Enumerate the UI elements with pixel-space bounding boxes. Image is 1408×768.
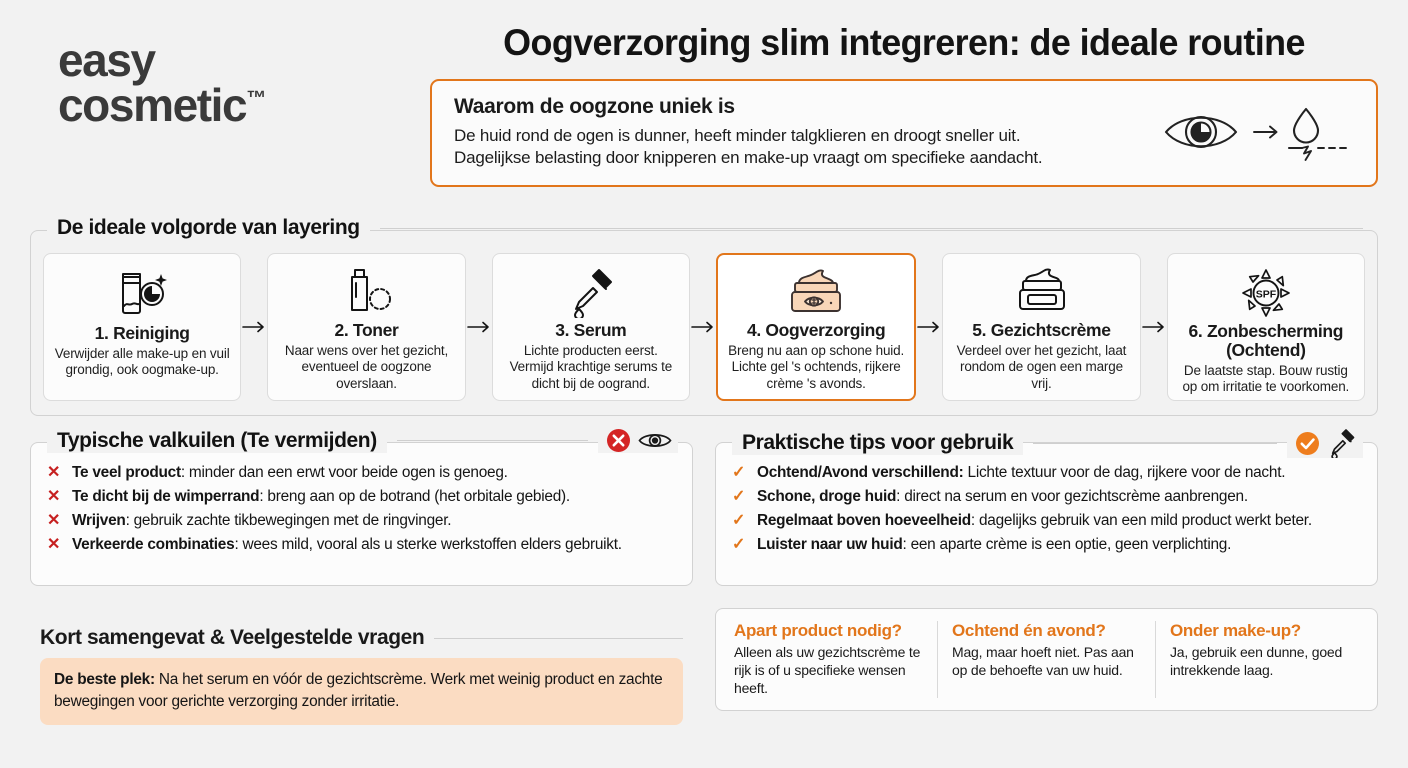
list-item-bold: Regelmaat boven hoeveelheid (757, 512, 971, 529)
summary-legend: Kort samengevat & Veelgestelde vragen (40, 626, 683, 650)
tips-legend-text: Praktische tips voor gebruik (732, 431, 1023, 455)
list-item-rest: : gebruik zachte tikbewegingen met de ri… (126, 512, 452, 529)
lower-grid: Typische valkuilen (Te vermijden) (30, 442, 1378, 735)
list-item-rest: Lichte textuur voor de dag, rijkere voor… (963, 464, 1285, 481)
right-column: Praktische tips voor gebruik (715, 442, 1378, 735)
brand-word-cosmetic: cosmetic (58, 79, 246, 131)
pitfalls-list: ✕ Te veel product: minder dan een erwt v… (47, 461, 676, 557)
step-title: 5. Gezichtscrème (972, 321, 1110, 340)
brand-logo: easy cosmetic™ (30, 18, 430, 127)
step-title: 4. Oogverzorging (747, 321, 885, 340)
page-title: Oogverzorging slim integreren: de ideale… (444, 22, 1364, 65)
step-card-3[interactable]: 3. Serum Lichte producten eerst. Vermijd… (492, 253, 690, 401)
step-arrow-2 (466, 253, 492, 401)
legend-divider (397, 440, 588, 441)
intro-line-two: Dagelijkse belasting door knipperen en m… (454, 147, 1144, 169)
list-item-rest: : wees mild, vooral als u sterke werksto… (234, 536, 621, 553)
faq-question: Onder make-up? (1170, 621, 1359, 641)
eye-outline-icon (638, 430, 672, 451)
cleanser-tube-icon (111, 266, 173, 322)
step-arrow-4 (916, 253, 942, 401)
step-desc: Breng nu aan op schone huid. Lichte gel … (726, 343, 906, 392)
list-item-bold: Te veel product (72, 464, 181, 481)
red-x-circle-icon (606, 428, 631, 453)
faq-question: Ochtend én avond? (952, 621, 1141, 641)
step-card-2[interactable]: 2. Toner Naar wens over het gezicht, eve… (267, 253, 465, 401)
list-item-text: Te dicht bij de wimperrand: breng aan op… (72, 485, 570, 509)
step-title: 1. Reiniging (95, 324, 190, 343)
check-mark-icon: ✓ (732, 534, 748, 556)
intro-text: Waarom de oogzone uniek is De huid rond … (454, 95, 1144, 170)
list-item: ✕ Te veel product: minder dan een erwt v… (47, 461, 676, 485)
list-item-text: Schone, droge huid: direct na serum en v… (757, 485, 1248, 509)
dropper-icon (565, 266, 617, 319)
intro-title: Waarom de oogzone uniek is (454, 95, 1144, 119)
list-item: ✓ Ochtend/Avond verschillend: Lichte tex… (732, 461, 1361, 485)
check-mark-icon: ✓ (732, 486, 748, 508)
faq-item-3: Onder make-up? Ja, gebruik een dunne, go… (1156, 621, 1373, 698)
list-item-rest: : een aparte crème is een optie, geen ve… (903, 536, 1232, 553)
list-item-rest: : dagelijks gebruik van een mild product… (971, 512, 1312, 529)
step-card-6[interactable]: SPF 6. Zonbescherming (Ochtend) De laats… (1167, 253, 1365, 401)
steps-row: 1. Reiniging Verwijder alle make-up en v… (43, 253, 1365, 401)
list-item: ✕ Verkeerde combinaties: wees mild, voor… (47, 533, 676, 557)
intro-line-one: De huid rond de ogen is dunner, heeft mi… (454, 125, 1144, 147)
arrow-right-icon (691, 320, 715, 334)
list-item-bold: Luister naar uw huid (757, 536, 903, 553)
list-item-bold: Te dicht bij de wimperrand (72, 488, 259, 505)
list-item: ✓ Luister naar uw huid: een aparte crème… (732, 533, 1361, 557)
infographic-page: easy cosmetic™ Oogverzorging slim integr… (0, 0, 1408, 768)
header: easy cosmetic™ Oogverzorging slim integr… (0, 0, 1408, 222)
summary-callout: De beste plek: Na het serum en vóór de g… (40, 658, 683, 725)
tips-icons (1287, 428, 1363, 458)
arrow-right-icon (917, 320, 941, 334)
dropper-icon (1327, 428, 1357, 458)
legend-divider (380, 228, 1363, 229)
spf-sun-icon: SPF (1237, 266, 1295, 320)
left-column: Typische valkuilen (Te vermijden) (30, 442, 693, 735)
tips-legend: Praktische tips voor gebruik (732, 428, 1363, 458)
list-item-rest: : breng aan op de botrand (het orbitale … (259, 488, 570, 505)
intro-icon-group (1156, 101, 1356, 163)
layering-steps-section: De ideale volgorde van layering 1. (30, 230, 1378, 416)
pitfalls-legend: Typische valkuilen (Te vermijden) (47, 428, 678, 453)
step-title: 2. Toner (335, 321, 399, 340)
legend-divider (434, 638, 683, 639)
summary-wrap: Kort samengevat & Veelgestelde vragen De… (40, 626, 683, 725)
faq-item-1: Apart product nodig? Alleen als uw gezic… (720, 621, 938, 698)
tips-list: ✓ Ochtend/Avond verschillend: Lichte tex… (732, 461, 1361, 557)
faq-answer: Mag, maar hoeft niet. Pas aan op de beho… (952, 644, 1141, 680)
faq-item-2: Ochtend én avond? Mag, maar hoeft niet. … (938, 621, 1156, 698)
summary-legend-text: Kort samengevat & Veelgestelde vragen (40, 626, 424, 650)
list-item-text: Wrijven: gebruik zachte tikbewegingen me… (72, 509, 451, 533)
summary-callout-bold: De beste plek: (54, 671, 155, 688)
step-desc: Verdeel over het gezicht, laat rondom de… (951, 343, 1131, 392)
tips-section: Praktische tips voor gebruik (715, 442, 1378, 586)
faq-box: Apart product nodig? Alleen als uw gezic… (715, 608, 1378, 711)
faq-answer: Alleen als uw gezichtscrème te rijk is o… (734, 644, 923, 698)
check-mark-icon: ✓ (732, 510, 748, 532)
header-right: Oogverzorging slim integreren: de ideale… (430, 18, 1378, 187)
pitfalls-section: Typische valkuilen (Te vermijden) (30, 442, 693, 586)
list-item-text: Luister naar uw huid: een aparte crème i… (757, 533, 1231, 557)
legend-divider (1033, 443, 1277, 444)
step-title: 6. Zonbescherming (Ochtend) (1176, 322, 1356, 360)
step-desc: Verwijder alle make-up en vuil grondig, … (52, 346, 232, 379)
eye-cream-jar-icon (783, 267, 849, 319)
list-item: ✓ Regelmaat boven hoeveelheid: dagelijks… (732, 509, 1361, 533)
brand-line-two: cosmetic™ (58, 83, 430, 128)
orange-check-circle-icon (1295, 431, 1320, 456)
intro-box: Waarom de oogzone uniek is De huid rond … (430, 79, 1378, 187)
list-item-text: Te veel product: minder dan een erwt voo… (72, 461, 508, 485)
list-item-bold: Verkeerde combinaties (72, 536, 234, 553)
check-mark-icon: ✓ (732, 462, 748, 484)
step-desc: Naar wens over het gezicht, eventueel de… (276, 343, 456, 392)
list-item-bold: Ochtend/Avond verschillend: (757, 464, 963, 481)
arrow-right-icon (467, 320, 491, 334)
pitfalls-legend-text: Typische valkuilen (Te vermijden) (47, 429, 387, 453)
eye-to-dryness-icon (1158, 101, 1354, 163)
cream-jar-icon (1010, 266, 1072, 319)
list-item-bold: Wrijven (72, 512, 126, 529)
list-item-text: Ochtend/Avond verschillend: Lichte textu… (757, 461, 1285, 485)
step-title: 3. Serum (555, 321, 626, 340)
list-item: ✕ Wrijven: gebruik zachte tikbewegingen … (47, 509, 676, 533)
toner-bottle-icon (335, 266, 397, 319)
x-mark-icon: ✕ (47, 462, 63, 484)
faq-answer: Ja, gebruik een dunne, goed intrekkende … (1170, 644, 1359, 680)
x-mark-icon: ✕ (47, 486, 63, 508)
step-card-4[interactable]: 4. Oogverzorging Breng nu aan op schone … (716, 253, 916, 401)
list-item-text: Verkeerde combinaties: wees mild, vooral… (72, 533, 622, 557)
arrow-right-icon (1142, 320, 1166, 334)
summary-section: Kort samengevat & Veelgestelde vragen De… (30, 608, 693, 735)
step-desc: Lichte producten eerst. Vermijd krachtig… (501, 343, 681, 392)
faq-question: Apart product nodig? (734, 621, 923, 641)
list-item-rest: : minder dan een erwt voor beide ogen is… (181, 464, 508, 481)
arrow-right-icon (242, 320, 266, 334)
step-arrow-5 (1141, 253, 1167, 401)
step-desc: De laatste stap. Bouw rustig op om irrit… (1176, 363, 1356, 396)
list-item: ✕ Te dicht bij de wimperrand: breng aan … (47, 485, 676, 509)
list-item-rest: : direct na serum en voor gezichtscrème … (896, 488, 1248, 505)
list-item-text: Regelmaat boven hoeveelheid: dagelijks g… (757, 509, 1312, 533)
step-arrow-3 (690, 253, 716, 401)
step-card-1[interactable]: 1. Reiniging Verwijder alle make-up en v… (43, 253, 241, 401)
brand-line-one: easy (58, 38, 430, 83)
list-item: ✓ Schone, droge huid: direct na serum en… (732, 485, 1361, 509)
step-card-5[interactable]: 5. Gezichtscrème Verdeel over het gezich… (942, 253, 1140, 401)
pitfalls-icons (598, 428, 678, 453)
x-mark-icon: ✕ (47, 510, 63, 532)
step-arrow-1 (241, 253, 267, 401)
trademark-symbol: ™ (246, 87, 266, 109)
list-item-bold: Schone, droge huid (757, 488, 896, 505)
x-mark-icon: ✕ (47, 534, 63, 556)
svg-text:SPF: SPF (1256, 289, 1277, 301)
